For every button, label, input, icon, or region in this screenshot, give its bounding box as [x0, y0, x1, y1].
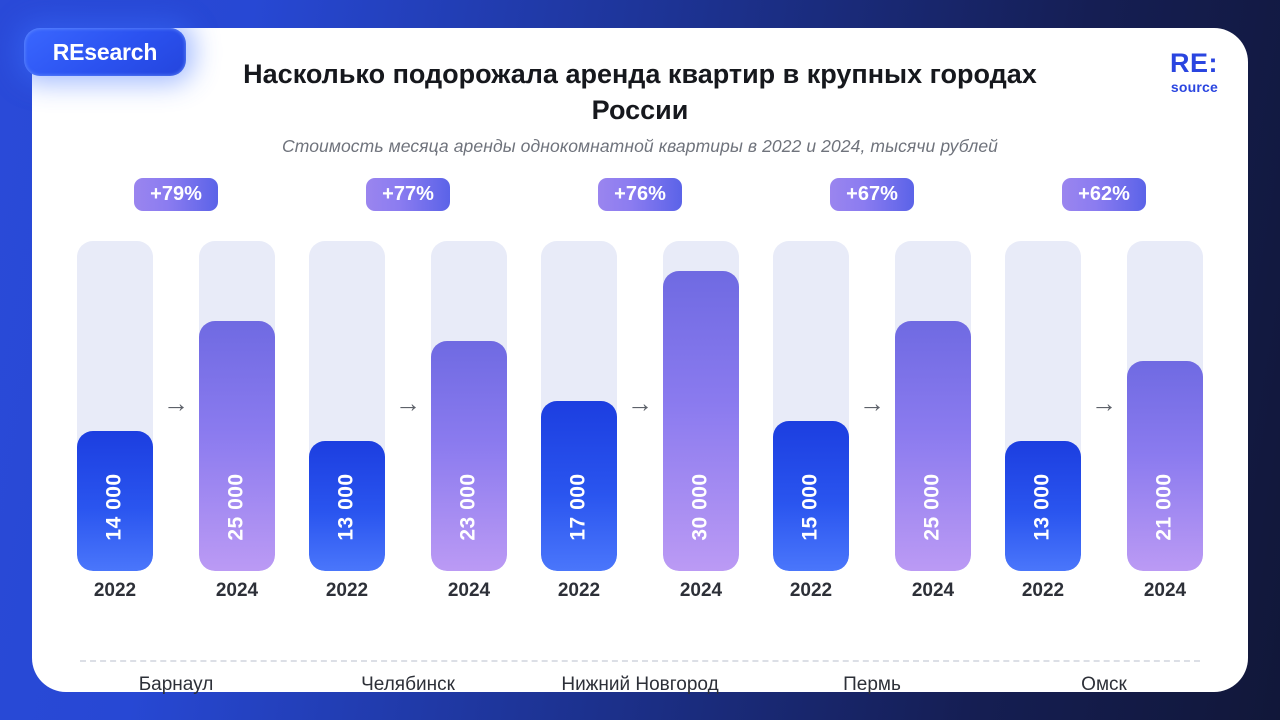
bar-value-label: 13 000: [1031, 473, 1055, 540]
growth-percent-badge: +67%: [830, 178, 914, 211]
bar-fill[interactable]: 23 000: [431, 341, 507, 571]
arrow-right-icon: →: [1081, 241, 1127, 571]
bar-column: 13 000: [1005, 241, 1081, 571]
bars-row: 17 000→30 000: [524, 241, 756, 571]
bar-track: 25 000: [199, 241, 275, 571]
city-group: +77%13 000→23 00020222024: [292, 178, 524, 608]
city-labels-row: БарнаулЧелябинскНижний НовгородПермьОмск: [60, 674, 1220, 696]
year-label: 2022: [773, 580, 849, 602]
bars-row: 13 000→21 000: [988, 241, 1220, 571]
bar-fill[interactable]: 13 000: [309, 441, 385, 571]
bar-value-label: 14 000: [103, 473, 127, 540]
bar-track: 25 000: [895, 241, 971, 571]
bar-fill[interactable]: 15 000: [773, 421, 849, 571]
bar-column: 25 000: [199, 241, 275, 571]
arrow-right-icon: →: [153, 241, 199, 571]
city-group: +62%13 000→21 00020222024: [988, 178, 1220, 608]
bar-fill[interactable]: 25 000: [895, 321, 971, 571]
year-labels-row: 20222024: [60, 580, 292, 602]
city-label: Пермь: [756, 674, 988, 696]
bar-column: 21 000: [1127, 241, 1203, 571]
research-brand-badge: REsearch: [24, 28, 186, 76]
page-title: Насколько подорожала аренда квартир в кр…: [32, 56, 1248, 129]
year-label: 2024: [895, 580, 971, 602]
year-labels-row: 20222024: [988, 580, 1220, 602]
bar-value-label: 15 000: [799, 473, 823, 540]
chart-plot-area: +79%14 000→25 00020222024+77%13 000→23 0…: [60, 178, 1220, 608]
bar-fill[interactable]: 30 000: [663, 271, 739, 571]
growth-percent-badge: +77%: [366, 178, 450, 211]
growth-percent-badge: +62%: [1062, 178, 1146, 211]
city-label: Челябинск: [292, 674, 524, 696]
bar-value-label: 23 000: [457, 473, 481, 540]
year-label: 2022: [77, 580, 153, 602]
section-divider: [80, 660, 1200, 662]
city-group: +79%14 000→25 00020222024: [60, 178, 292, 608]
bar-value-label: 25 000: [921, 473, 945, 540]
chart-card: RE: source Насколько подорожала аренда к…: [32, 28, 1248, 692]
year-labels-row: 20222024: [756, 580, 988, 602]
year-label: 2022: [309, 580, 385, 602]
arrow-right-icon: →: [617, 241, 663, 571]
city-label: Барнаул: [60, 674, 292, 696]
research-brand-label: REsearch: [53, 39, 158, 66]
city-group: +76%17 000→30 00020222024: [524, 178, 756, 608]
bars-row: 13 000→23 000: [292, 241, 524, 571]
chart-subtitle: Стоимость месяца аренды однокомнатной кв…: [32, 136, 1248, 157]
bar-track: 30 000: [663, 241, 739, 571]
bars-row: 14 000→25 000: [60, 241, 292, 571]
year-label: 2024: [431, 580, 507, 602]
bar-column: 17 000: [541, 241, 617, 571]
bar-value-label: 17 000: [567, 473, 591, 540]
growth-percent-badge: +76%: [598, 178, 682, 211]
bar-track: 13 000: [309, 241, 385, 571]
arrow-right-icon: →: [849, 241, 895, 571]
year-label: 2024: [199, 580, 275, 602]
arrow-right-icon: →: [385, 241, 431, 571]
year-labels-row: 20222024: [292, 580, 524, 602]
bar-track: 14 000: [77, 241, 153, 571]
bar-value-label: 13 000: [335, 473, 359, 540]
bar-column: 23 000: [431, 241, 507, 571]
bar-column: 30 000: [663, 241, 739, 571]
bar-fill[interactable]: 17 000: [541, 401, 617, 571]
city-label: Нижний Новгород: [524, 674, 756, 696]
bar-fill[interactable]: 13 000: [1005, 441, 1081, 571]
city-label: Омск: [988, 674, 1220, 696]
bar-track: 15 000: [773, 241, 849, 571]
bar-track: 23 000: [431, 241, 507, 571]
bar-track: 21 000: [1127, 241, 1203, 571]
year-label: 2024: [1127, 580, 1203, 602]
city-group: +67%15 000→25 00020222024: [756, 178, 988, 608]
bar-fill[interactable]: 21 000: [1127, 361, 1203, 571]
bar-value-label: 25 000: [225, 473, 249, 540]
bar-column: 13 000: [309, 241, 385, 571]
bar-track: 13 000: [1005, 241, 1081, 571]
growth-percent-badge: +79%: [134, 178, 218, 211]
year-labels-row: 20222024: [524, 580, 756, 602]
year-label: 2022: [541, 580, 617, 602]
bar-value-label: 30 000: [689, 473, 713, 540]
bar-fill[interactable]: 14 000: [77, 431, 153, 571]
bar-track: 17 000: [541, 241, 617, 571]
year-label: 2022: [1005, 580, 1081, 602]
bar-fill[interactable]: 25 000: [199, 321, 275, 571]
bar-column: 25 000: [895, 241, 971, 571]
year-label: 2024: [663, 580, 739, 602]
bar-value-label: 21 000: [1153, 473, 1177, 540]
bars-row: 15 000→25 000: [756, 241, 988, 571]
bar-column: 14 000: [77, 241, 153, 571]
bar-column: 15 000: [773, 241, 849, 571]
